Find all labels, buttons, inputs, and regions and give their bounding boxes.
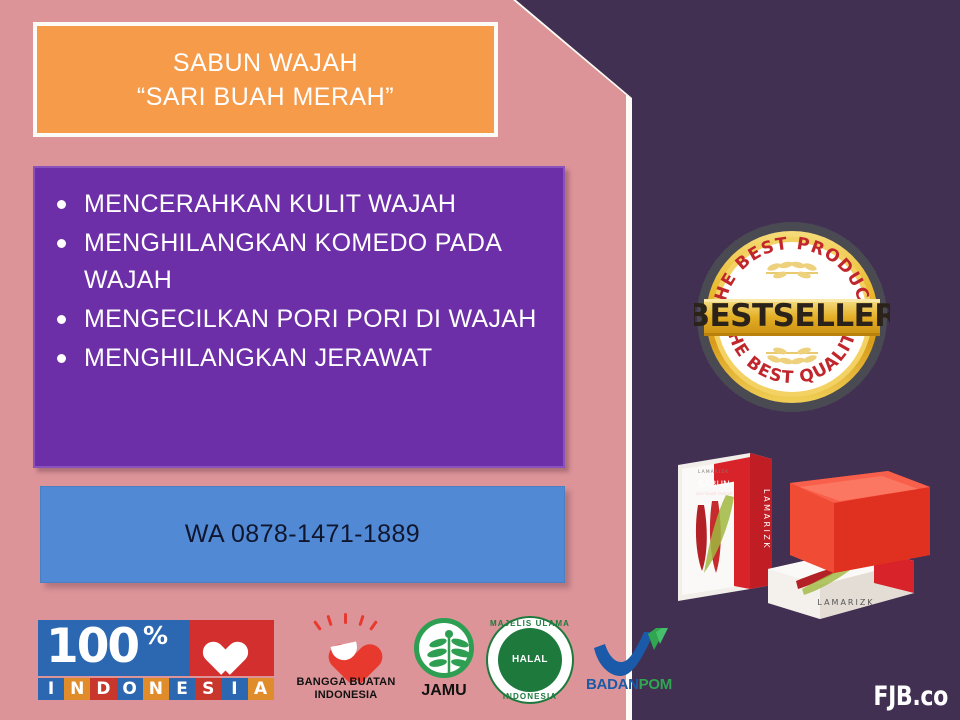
product-box-standing: SABUN sari buah merah LAMARIZK LAMARIZK [678,453,772,601]
halal-arc-bottom: INDONESIA [486,692,574,701]
benefit-item: MENGECILKAN PORI PORI DI WAJAH [49,301,549,338]
badge-letter: N [64,678,90,700]
badge-letter: I [38,678,64,700]
ray-icon [326,615,332,626]
badge-100-number: 100 [46,619,138,675]
benefit-text: MENGHILANGKAN KOMEDO PADA WAJAH [84,225,549,299]
badge-letter: A [248,678,274,700]
watermark: FJB.co [873,681,948,712]
bangga-line-2: INDONESIA [294,689,398,701]
halal-center-text: HALAL [498,654,562,665]
benefit-item: MENCERAHKAN KULIT WAJAH [49,186,549,223]
whatsapp-contact-box[interactable]: WA 0878-1471-1889 [40,486,565,583]
benefit-text: MENGECILKAN PORI PORI DI WAJAH [84,301,537,338]
product-photo: SABUN sari buah merah LAMARIZK LAMARIZK … [668,443,950,633]
ray-icon [369,620,378,631]
pom-wordmark: BADANPOM [586,676,672,693]
plant-icon [424,627,474,677]
badge-letter: E [169,678,195,700]
seal-center-banner: BESTSELLER [694,298,890,336]
ray-icon [344,613,347,624]
jamu-label: JAMU [410,682,478,700]
badge-letter: D [90,678,116,700]
heart-icon [196,628,236,664]
bullet-dot-icon [57,200,66,209]
ray-icon [358,615,364,626]
percent-icon: % [143,621,168,650]
benefit-item: MENGHILANGKAN JERAWAT [49,340,549,377]
bangga-line-1: BANGGA BUATAN [294,676,398,688]
benefit-item: MENGHILANGKAN KOMEDO PADA WAJAH [49,225,549,299]
pom-checkmark-icon [592,626,672,678]
badge-jamu: JAMU [410,618,478,708]
title-line-1: SABUN WAJAH [173,46,358,80]
pom-pom-text: POM [639,676,672,693]
badge-100-percent-indonesia: 100 % I N D O N E S I A [38,620,274,700]
benefit-text: MENCERAHKAN KULIT WAJAH [84,186,456,223]
badge-mui-halal: HALAL MAJELIS ULAMA INDONESIA [486,616,574,706]
bestseller-seal: THE BEST PRODUCT THE BEST QUALITY BESTSE… [694,219,890,415]
badge-badan-pom: BADANPOM [586,626,678,702]
seal-center-text: BESTSELLER [694,298,890,334]
bullet-dot-icon [57,315,66,324]
pom-badan-text: BADAN [586,676,639,693]
badge-letter: S [195,678,221,700]
badge-letter: O [117,678,143,700]
badge-bangga-buatan-indonesia: BANGGA BUATAN INDONESIA [294,616,398,708]
bullet-dot-icon [57,239,66,248]
jamu-circle [414,618,474,678]
whatsapp-number: WA 0878-1471-1889 [185,520,420,549]
badge-letter: I [221,678,247,700]
product-title-box: SABUN WAJAH “SARI BUAH MERAH” [33,22,498,137]
benefit-text: MENGHILANGKAN JERAWAT [84,340,432,377]
certification-badge-strip: 100 % I N D O N E S I A BANGGA BUATAN IN… [38,612,628,712]
badge-100-wordmark: I N D O N E S I A [38,678,274,700]
flat-box-brand-text: LAMARIZK [817,598,874,607]
bullet-dot-icon [57,354,66,363]
box-brand-small-text: LAMARIZK [698,469,729,475]
product-soap-bar [790,471,930,573]
box-brand-vertical-text: LAMARIZK [762,489,771,550]
halal-arc-top: MAJELIS ULAMA [486,619,574,628]
badge-letter: N [143,678,169,700]
benefits-box: MENCERAHKAN KULIT WAJAH MENGHILANGKAN KO… [33,166,565,468]
title-line-2: “SARI BUAH MERAH” [137,80,394,114]
box-subtitle-text: sari buah merah [696,491,733,497]
box-title-text: SABUN [698,480,730,490]
